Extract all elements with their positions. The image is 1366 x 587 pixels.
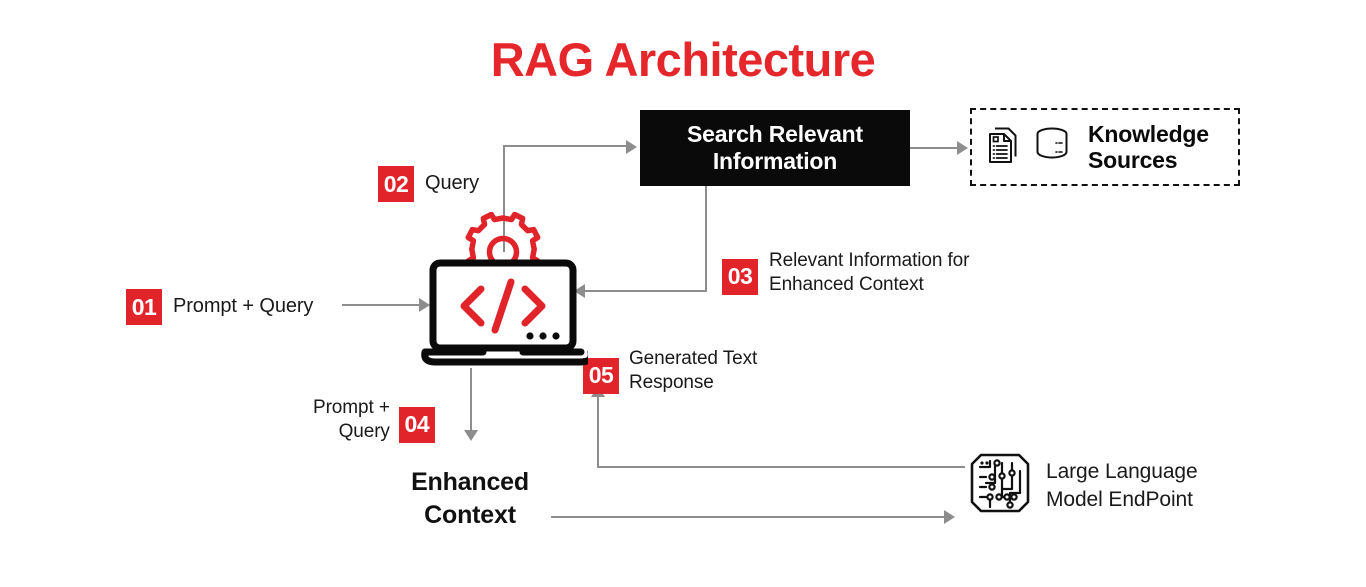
- step-05-label: Generated Text Response: [629, 347, 757, 396]
- rag-architecture-diagram: RAG Architecture Search Relevant Informa…: [0, 0, 1366, 587]
- step-03-label-line1: Relevant Information for: [769, 249, 969, 273]
- step-03-badge: 03: [722, 259, 758, 295]
- step-04: Prompt + Query 04: [313, 394, 435, 443]
- llm-endpoint-node[interactable]: Large Language Model EndPoint: [968, 451, 1198, 520]
- enhanced-context-line1: Enhanced: [370, 466, 570, 499]
- llm-endpoint-line1: Large Language: [1046, 458, 1198, 485]
- step-03-label-line2: Enhanced Context: [769, 273, 969, 297]
- step-05-label-line1: Generated Text: [629, 347, 757, 371]
- search-relevant-information-box[interactable]: Search Relevant Information: [640, 110, 910, 186]
- arrowhead-query-to-search: [626, 140, 637, 154]
- knowledge-sources-label-line1: Knowledge: [1088, 121, 1209, 147]
- step-02-badge: 02: [378, 166, 414, 202]
- step-04-label-line2: Query: [313, 420, 390, 444]
- enhanced-context-line2: Context: [370, 499, 570, 532]
- step-01-label: Prompt + Query: [173, 294, 313, 320]
- ellipsis-dots-icon: [526, 332, 559, 339]
- connector-search-to-knowledge: [910, 147, 958, 149]
- step-02: 02 Query: [378, 166, 479, 202]
- connector-app-to-enhanced-context: [470, 368, 472, 433]
- llm-endpoint-line2: Model EndPoint: [1046, 486, 1198, 513]
- step-01-badge: 01: [126, 289, 162, 325]
- connector-relevant-info-vertical: [705, 186, 707, 292]
- knowledge-sources-label-line2: Sources: [1088, 147, 1209, 173]
- enhanced-context-label: Enhanced Context: [370, 466, 570, 531]
- connector-enhanced-context-to-llm: [551, 516, 945, 518]
- step-02-label: Query: [425, 171, 479, 197]
- step-05-label-line2: Response: [629, 371, 757, 395]
- step-03: 03 Relevant Information for Enhanced Con…: [722, 246, 969, 295]
- step-04-label: Prompt + Query: [313, 396, 390, 445]
- connector-llm-to-app-horizontal: [597, 466, 965, 468]
- knowledge-sources-box[interactable]: Knowledge Sources: [970, 108, 1240, 186]
- connector-query-horizontal: [503, 145, 627, 147]
- search-box-label-line2: Information: [687, 148, 863, 175]
- step-04-badge: 04: [399, 407, 435, 443]
- circuit-chip-icon: [968, 451, 1032, 520]
- page-title: RAG Architecture: [0, 32, 1366, 87]
- arrowhead-app-to-enhanced-context: [464, 430, 478, 441]
- arrowhead-enhanced-context-to-llm: [944, 510, 955, 524]
- step-03-label: Relevant Information for Enhanced Contex…: [769, 249, 969, 298]
- connector-llm-to-app-vertical: [597, 396, 599, 467]
- step-01: 01 Prompt + Query: [126, 289, 313, 325]
- connector-prompt-to-app: [342, 304, 420, 306]
- laptop-base-icon: [425, 352, 588, 362]
- connector-relevant-info-horizontal: [585, 290, 706, 292]
- step-05-badge: 05: [583, 358, 619, 394]
- step-04-label-line1: Prompt +: [313, 396, 390, 420]
- documents-icon: [988, 125, 1022, 170]
- search-box-label-line1: Search Relevant: [687, 121, 863, 148]
- application-node[interactable]: [418, 212, 588, 370]
- llm-endpoint-label: Large Language Model EndPoint: [1046, 458, 1198, 513]
- step-05: 05 Generated Text Response: [583, 345, 757, 394]
- database-icon: [1034, 126, 1070, 169]
- arrowhead-search-to-knowledge: [957, 141, 968, 155]
